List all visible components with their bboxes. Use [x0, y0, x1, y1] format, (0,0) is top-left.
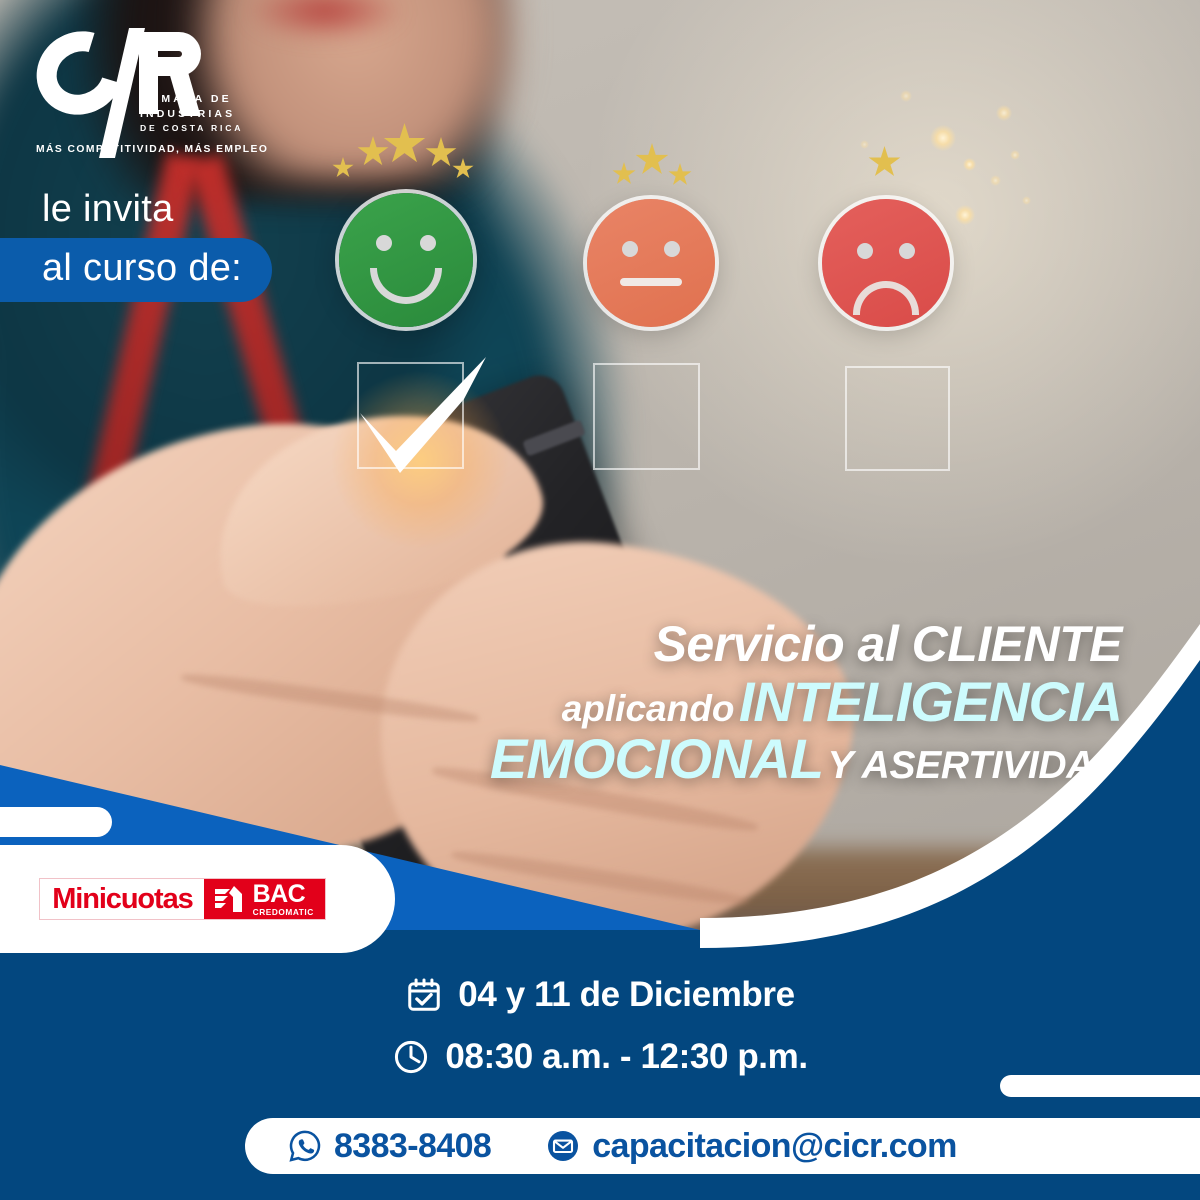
- minicuotas-label: Minicuotas: [40, 879, 203, 919]
- bac-name: BAC: [253, 882, 314, 907]
- bac-text: BAC CREDOMATIC: [253, 882, 314, 916]
- event-date: 04 y 11 de Diciembre: [458, 975, 794, 1015]
- minicuotas-bac-logo: Minicuotas BAC CREDOMATIC: [39, 878, 326, 920]
- date-row: 04 y 11 de Diciembre: [0, 975, 1200, 1015]
- bac-logo-icon: [212, 884, 246, 914]
- whatsapp-contact[interactable]: 8383-8408: [287, 1127, 491, 1166]
- clock-icon: [392, 1038, 430, 1076]
- mail-icon: [545, 1128, 581, 1164]
- time-row: 08:30 a.m. - 12:30 p.m.: [0, 1037, 1200, 1077]
- promo-poster: CÁMARA DE INDUSTRIAS DE COSTA RICA MÁS C…: [0, 0, 1200, 1200]
- event-details: 04 y 11 de Diciembre 08:30 a.m. - 12:30 …: [0, 975, 1200, 1077]
- white-accent-bar-left: [0, 807, 112, 837]
- white-accent-bar-right: [1000, 1075, 1200, 1097]
- calendar-check-icon: [405, 976, 443, 1014]
- bac-sub: CREDOMATIC: [253, 908, 314, 916]
- contact-email: capacitacion@cicr.com: [592, 1127, 957, 1166]
- whatsapp-icon: [287, 1128, 323, 1164]
- event-time: 08:30 a.m. - 12:30 p.m.: [445, 1037, 807, 1077]
- contact-phone: 8383-8408: [334, 1127, 491, 1166]
- sponsor-pill: Minicuotas BAC CREDOMATIC: [0, 845, 395, 953]
- email-contact[interactable]: capacitacion@cicr.com: [545, 1127, 957, 1166]
- bac-block: BAC CREDOMATIC: [204, 879, 325, 919]
- contact-bar: 8383-8408 capacitacion@cicr.com: [245, 1118, 1200, 1174]
